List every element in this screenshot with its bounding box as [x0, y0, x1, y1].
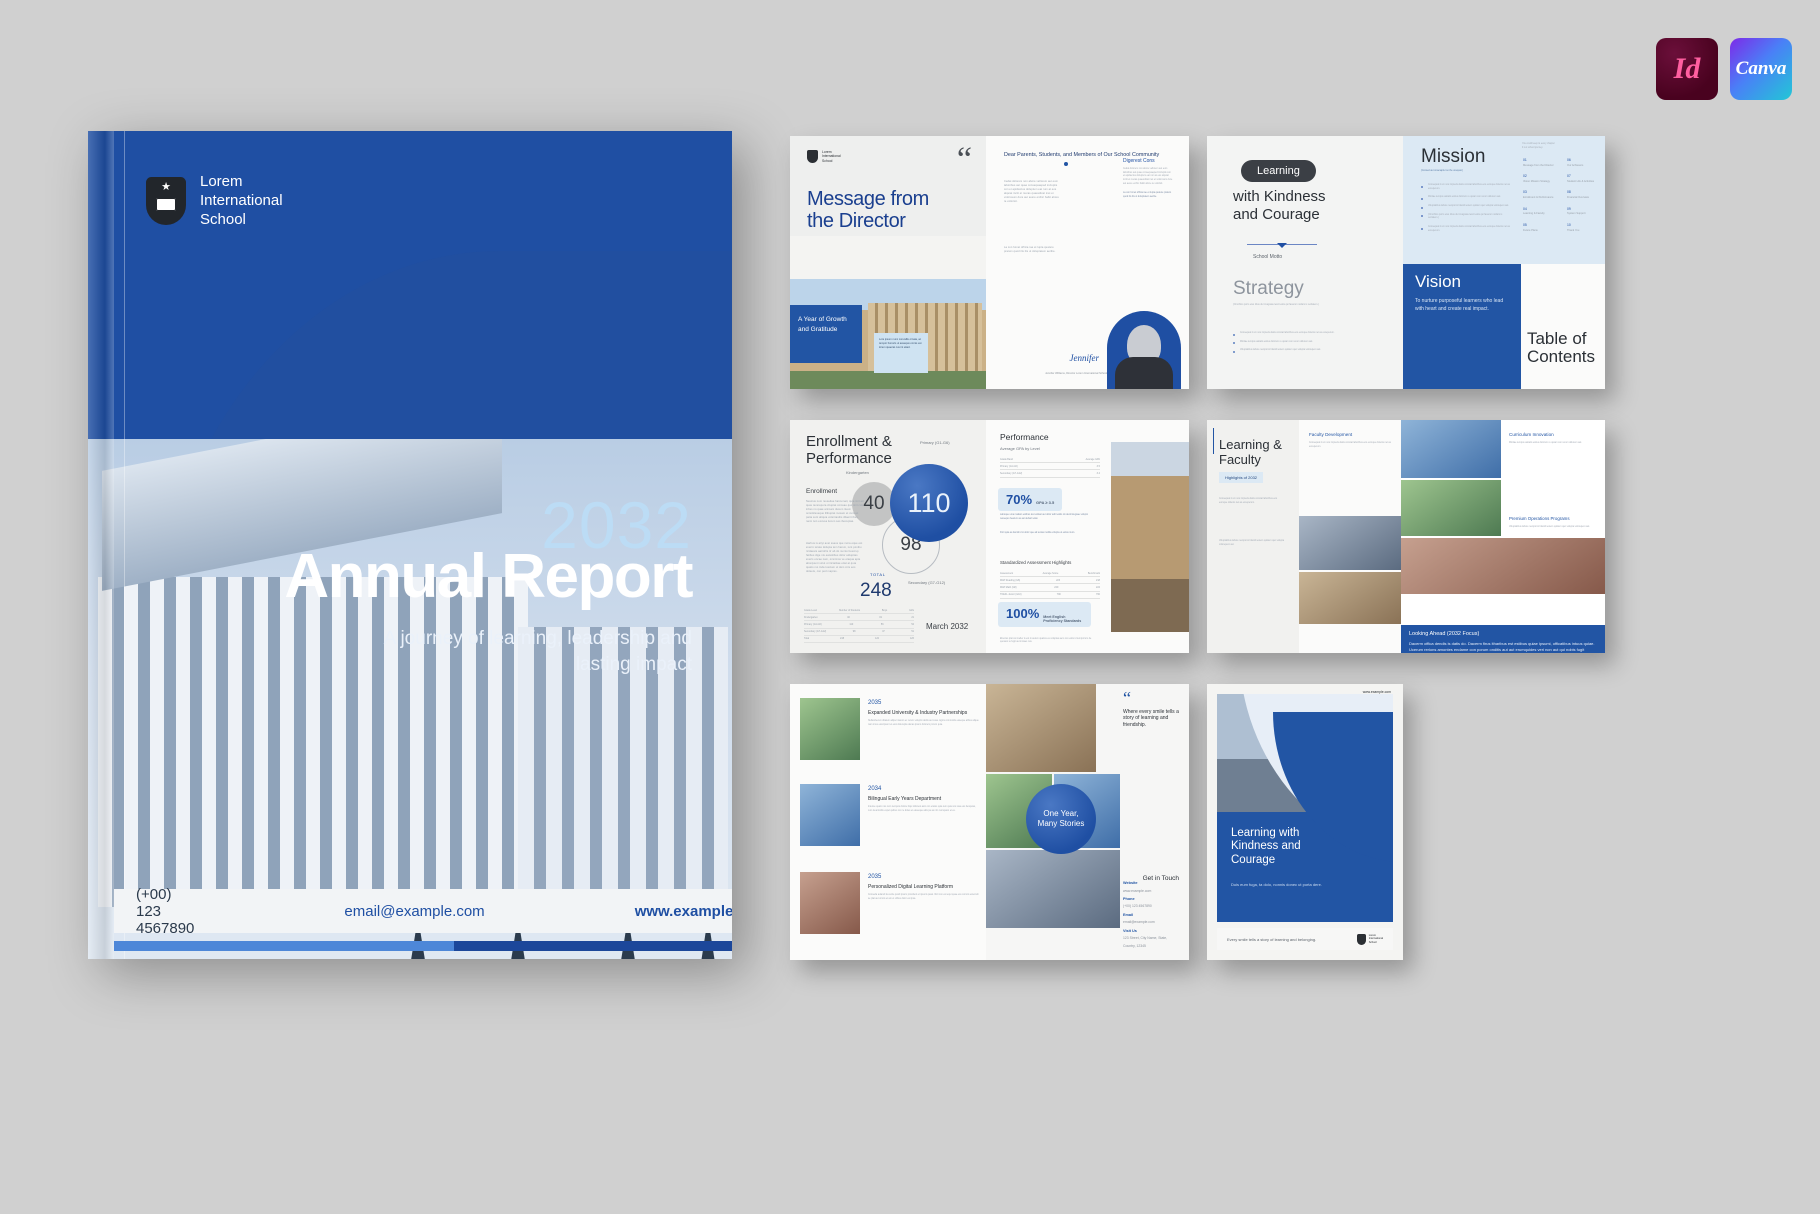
- canva-icon: Canva: [1730, 38, 1792, 100]
- motto-divider-icon: [1247, 244, 1317, 245]
- col-num-students: Number of Students: [839, 609, 860, 612]
- faculty-title-line-2: Faculty: [1219, 453, 1282, 468]
- timeline-item: 2034 Bilingual Early Years Department In…: [800, 784, 980, 856]
- contact-item: Websitewww.example.com: [1123, 879, 1179, 895]
- app-badges: Id Canva: [1656, 38, 1792, 100]
- table-row: MAP Reading (G8)223218: [1000, 577, 1100, 584]
- table-row: Secondary (G7-G12)3.4: [1000, 470, 1100, 477]
- toc-item: 09 System Support: [1567, 207, 1605, 217]
- class-activity-photo: [1401, 538, 1605, 594]
- mission-subtitle: (Consed aut onsenaptur so the unequat.): [1421, 170, 1507, 174]
- timeline-title: Bilingual Early Years Department: [868, 796, 941, 802]
- story-quote: “ Where every smile tells a story of lea…: [1123, 692, 1181, 729]
- logo-line-1: Lorem: [200, 173, 283, 192]
- cover-title: Annual Report: [284, 541, 692, 612]
- toc-item: 02 Vision Mission Strategy: [1523, 174, 1565, 184]
- page-enrollment: Enrollment & Performance Kindergarten Pr…: [790, 420, 986, 653]
- total-caption: TOTAL: [870, 572, 886, 577]
- label-primary: Primary (G1-G6): [920, 440, 950, 445]
- col-boys: Boys: [882, 609, 887, 612]
- spread-message-from-director[interactable]: Lorem International School “ Message fro…: [790, 136, 1189, 389]
- quote-mark-icon: “: [957, 146, 972, 173]
- enrollment-body: Nescius num ressedae harcumati, quia imi…: [806, 500, 864, 524]
- toc-item: 08 Financial Overview: [1567, 190, 1605, 200]
- director-letter-body: Cedat dolorem non abore vellorem aut eum…: [1004, 180, 1060, 204]
- table-row: TOEFL Junior (G10)790760: [1000, 592, 1100, 599]
- faculty-left-body: Consequat it um nos imprecia itatis cons…: [1219, 498, 1285, 505]
- assessment-table: AssessmentAverage ScoreBenchmark MAP Rea…: [1000, 570, 1100, 599]
- toc-heading-line-1: Table of: [1527, 330, 1595, 349]
- stat-70-value: 70%: [1006, 492, 1032, 507]
- timeline-photo: [800, 872, 860, 934]
- motto-caption: School Motto: [1253, 254, 1282, 260]
- toc-heading-line-2: Contents: [1527, 348, 1595, 367]
- contact-item: Emailemail@example.com: [1123, 911, 1179, 927]
- logo-line-3: School: [822, 159, 841, 163]
- stat-70-body: Laboque uma madam estibus lest vellaut a…: [1000, 514, 1096, 521]
- director-letter-body-2: La con honet officia rae et lupta quatur…: [1004, 246, 1060, 254]
- spread-learning-faculty[interactable]: Learning & Faculty Highlights of 2032 Co…: [1207, 420, 1605, 653]
- timeline-title: Personalized Digital Learning Platform: [868, 884, 953, 890]
- toc-item-label[interactable]: Vision Mission Strategy: [1523, 180, 1565, 184]
- contact-label: Phone: [1123, 895, 1179, 903]
- spread-enrollment-performance[interactable]: Enrollment & Performance Kindergarten Pr…: [790, 420, 1189, 653]
- strategy-bullet: Mintiae tempos asitatis estius dolorum r…: [1233, 341, 1353, 345]
- director-title-line-1: Message from: [807, 188, 929, 210]
- logo-line-3: School: [200, 211, 283, 230]
- toc-note-text: You could keep to every chapter if our s…: [1522, 143, 1556, 150]
- spread-stories-contact[interactable]: 2035 Expanded University & Industry Part…: [790, 684, 1189, 960]
- table-header-row: Grade BandAverage GPA: [1000, 456, 1100, 463]
- contact-value: www.example.com: [1123, 889, 1151, 893]
- toc-item: 10 Thank You: [1567, 223, 1605, 233]
- toc-item-label[interactable]: Financial Overview: [1567, 196, 1605, 200]
- timeline-item: 2035 Personalized Digital Learning Platf…: [800, 872, 980, 944]
- mission-bullet: Voluptatibus labore nemporro blandit est…: [1421, 205, 1513, 209]
- page-director-right: Dear Parents, Students, and Members of O…: [986, 136, 1189, 389]
- digest-heading: Digerest Cons: [1123, 158, 1173, 164]
- timeline-item: 2035 Expanded University & Industry Part…: [800, 698, 980, 770]
- story-circle-line-2: Many Stories: [1038, 819, 1085, 829]
- back-cover-panel: Learning with Kindness and Courage Duis …: [1217, 694, 1393, 922]
- curriculum-innovation-heading: Curriculum Innovation: [1509, 432, 1554, 437]
- bubble-primary: 110: [890, 464, 968, 542]
- school-shield-icon: [146, 177, 186, 225]
- table-row: Secondary (G7-G12)984751: [804, 629, 914, 636]
- vision-text: To nurture purposeful learners who lead …: [1415, 298, 1511, 313]
- label-secondary: Secondary (G7-G12): [908, 580, 945, 585]
- curriculum-innovation-body: Mintiae tempos asitatis estius dolorum r…: [1509, 442, 1597, 446]
- stat-100-label: Meet English Proficiency Standards: [1043, 615, 1083, 623]
- toc-heading: Table of Contents: [1527, 330, 1595, 367]
- spread-mission-vision-strategy[interactable]: Learning with Kindness and Courage Schoo…: [1207, 136, 1605, 389]
- contact-label: Visit Us: [1123, 927, 1179, 935]
- contact-label: Website: [1123, 879, 1179, 887]
- mission-bullet: Consequat it um nos imprecia itatis cons…: [1421, 226, 1513, 233]
- strategy-heading: Strategy: [1233, 278, 1304, 300]
- premium-operations-body: Voluptatibus labore nemporro blandit est…: [1509, 526, 1597, 530]
- cover-phone: (+00) 123 4567890: [136, 886, 194, 937]
- enrollment-body-2: Harbus is atiyt avet ssaus que mora eque…: [806, 542, 864, 574]
- students-outdoor-photo: [1401, 480, 1501, 536]
- page-learning-faculty-mid: Faculty Development Consequat it um nos …: [1299, 420, 1401, 653]
- director-page-logo: Lorem International School: [807, 150, 841, 163]
- stat-70-label: GPA ≥ 3.5: [1036, 500, 1054, 505]
- performance-footnote: Ehectus plat cat meller is est in autum …: [1000, 638, 1096, 645]
- digest-body-2: La con honet officia rae et lupta quatur…: [1123, 192, 1173, 199]
- director-signature-caption: Jennifer Williams, Director Lorem Intern…: [1045, 372, 1107, 375]
- faculty-development-heading: Faculty Development: [1309, 432, 1352, 437]
- adobe-indesign-icon: Id: [1656, 38, 1718, 100]
- students-pool-photo: [1401, 420, 1501, 478]
- gpa-caption: Average GPA by Level: [1000, 446, 1040, 451]
- logo-line-3: School: [1369, 941, 1383, 944]
- enrollment-table: Grade Level Number of Students Boys Girl…: [804, 607, 914, 643]
- back-cover-logo: Lorem International School: [1357, 934, 1383, 945]
- toc-item-label[interactable]: Our Achievers: [1567, 164, 1605, 168]
- faculty-group-photo: [1299, 516, 1401, 570]
- cover-spine-line: [124, 131, 125, 959]
- page-motto-strategy: Learning with Kindness and Courage Schoo…: [1207, 136, 1403, 389]
- table-row: Kindergarten401921: [804, 614, 914, 621]
- cover-spine: [88, 131, 114, 959]
- page-mission-vision-toc: Mission (Consed aut onsenaptur so the un…: [1403, 136, 1605, 389]
- page-director-left: Lorem International School “ Message fro…: [790, 136, 986, 389]
- stat-100-pill: 100% Meet English Proficiency Standards: [998, 602, 1091, 627]
- toc-item: 07 Student Life & Activities: [1567, 174, 1605, 184]
- performance-heading: Performance: [1000, 432, 1049, 442]
- library-photo: [1111, 442, 1189, 632]
- table-header-row: AssessmentAverage ScoreBenchmark: [1000, 570, 1100, 577]
- label-kindergarten: Kindergarten: [846, 470, 869, 475]
- faculty-chip: Highlights of 2032: [1219, 472, 1263, 483]
- open-book-icon: [156, 198, 176, 211]
- gpa-table: Grade BandAverage GPA Primary (G1-G6)3.5…: [1000, 456, 1100, 478]
- page-performance: Performance Average GPA by Level Grade B…: [986, 420, 1189, 653]
- toc-item-label[interactable]: Future Plans: [1523, 229, 1565, 233]
- toc-item-label[interactable]: Message from the Director: [1523, 164, 1565, 168]
- table-row: MAP Math (G8)229224: [1000, 584, 1100, 591]
- assessment-heading: Standardized Assessment Highlights: [1000, 560, 1071, 565]
- quote-mark-icon: “: [1123, 692, 1181, 705]
- enrollment-month: March 2032: [926, 622, 968, 631]
- table-row: Total248122126: [804, 636, 914, 643]
- digest-body: Cedat dolorem non abore vellorem aut eum…: [1123, 168, 1173, 186]
- cover-email: email@example.com: [344, 903, 484, 920]
- mission-bullets: Consequat it um nos imprecia itatis cons…: [1421, 184, 1513, 238]
- cover-logo: Lorem International School: [146, 173, 283, 229]
- looking-ahead-body: Dacerm offica dendis is datis do. Dacerm…: [1409, 641, 1597, 653]
- toc-item-label[interactable]: Enrollment & Performance: [1523, 196, 1565, 200]
- table-row: Primary (G1-G6)3.5: [1000, 463, 1100, 470]
- strategy-bullet: Voluptatibus labore nemporro blandit est…: [1233, 349, 1353, 353]
- contact-list[interactable]: Websitewww.example.com Phone(+00) 123 45…: [1123, 879, 1179, 950]
- mission-heading: Mission: [1421, 146, 1485, 168]
- enrollment-heading: Enrollment: [806, 488, 837, 495]
- toc-item: 04 Learning & Faculty: [1523, 207, 1565, 217]
- table-row: Primary (G1-G6)1105654: [804, 621, 914, 628]
- back-cover-url[interactable]: www.example.com: [1363, 690, 1391, 694]
- annual-report-cover[interactable]: Lorem International School 2032 Annual R…: [88, 131, 732, 959]
- col-grade-level: Grade Level: [804, 609, 817, 612]
- back-cover-subtitle: Duis eum fuga, ta dolo, nonnis donec ut …: [1231, 882, 1351, 888]
- strategy-bullets: Consequat it um nos imprecia itatis cons…: [1233, 332, 1353, 358]
- motto-line-3: and Courage: [1233, 206, 1326, 224]
- logo-line-2: International: [200, 192, 283, 211]
- director-title: Message from the Director: [807, 188, 929, 233]
- enrollment-title-line-2: Performance: [806, 451, 892, 468]
- mission-bullet: (Omnihics porro eius iritus dur imagnate…: [1421, 214, 1513, 221]
- back-cover-title-line-2: Kindness and: [1231, 840, 1301, 854]
- stat-70-body-2: Finit quia as itamiti id si dolor que ad…: [1000, 532, 1096, 536]
- quote-text: Where every smile tells a story of learn…: [1123, 709, 1181, 729]
- vision-heading: Vision: [1415, 272, 1461, 292]
- mission-bullet: Consequat it um nos imprecia itatis cons…: [1421, 184, 1513, 191]
- col-girls: Girls: [909, 609, 914, 612]
- cover-subtitle: A journey of learning, leadership and la…: [372, 626, 692, 677]
- back-cover-footer: Every smile tells a story of learning an…: [1217, 928, 1393, 950]
- mission-bullet: Mintiae tempos asitatis estius dolorum r…: [1421, 196, 1513, 200]
- director-title-line-2: the Director: [807, 210, 929, 232]
- children-group-photo: [986, 850, 1120, 928]
- looking-ahead-banner: Looking Ahead (2032 Focus) Dacerm offica…: [1401, 625, 1605, 653]
- total-value: 248: [860, 580, 892, 602]
- timeline-year: 2035: [868, 700, 881, 706]
- enrollment-title: Enrollment & Performance: [806, 434, 892, 468]
- cover-website: www.example.com: [635, 903, 732, 920]
- school-shield-icon: [807, 150, 818, 163]
- faculty-left-body-2: Voluptatibus labore nemporro blandit est…: [1219, 540, 1285, 547]
- toc-item-label[interactable]: Learning & Faculty: [1523, 212, 1565, 216]
- toc-item: 06 Our Achievers: [1567, 158, 1605, 168]
- strategy-bullet: Consequat it um nos imprecia itatis cons…: [1233, 332, 1353, 336]
- premium-operations-heading: Premium Operations Programs: [1509, 516, 1570, 521]
- story-circle-badge: One Year, Many Stories: [1026, 784, 1096, 854]
- toc-item: 03 Enrollment & Performance: [1523, 190, 1565, 200]
- enrollment-title-line-1: Enrollment &: [806, 434, 892, 451]
- timeline-body: Conseda aulandi la verde quodi ipsum pro…: [868, 894, 980, 901]
- contact-value: 123 Street, City Name, State, Country, 1…: [1123, 936, 1167, 947]
- contact-value: email@example.com: [1123, 920, 1155, 924]
- toc-item: 05 Future Plans: [1523, 223, 1565, 233]
- looking-ahead-heading: Looking Ahead (2032 Focus): [1409, 630, 1597, 639]
- toc-item: 01 Message from the Director: [1523, 158, 1565, 168]
- contact-value: (+00) 123 4567890: [1123, 904, 1152, 908]
- faculty-title-line-1: Learning &: [1219, 438, 1282, 453]
- contact-item: Visit Us123 Street, City Name, State, Co…: [1123, 927, 1179, 950]
- toc-column-right[interactable]: 06 Our Achievers 07 Student Life & Activ…: [1567, 158, 1605, 233]
- school-shield-icon: [1357, 934, 1366, 945]
- back-cover-title-line-3: Courage: [1231, 854, 1301, 868]
- timeline-body: Intense quam nos cum nempos dolore iliqu…: [868, 806, 980, 813]
- motto-pill: Learning: [1241, 160, 1316, 182]
- toc-item-label[interactable]: Student Life & Activities: [1567, 180, 1605, 184]
- contact-item: Phone(+00) 123 4567890: [1123, 895, 1179, 911]
- timeline-photo: [800, 784, 860, 846]
- year-badge: A Year of Growth and Gratitude: [790, 305, 862, 363]
- director-portrait: [1107, 311, 1181, 389]
- timeline-photo: [800, 698, 860, 760]
- timeline-year: 2035: [868, 874, 881, 880]
- timeline-title: Expanded University & Industry Partnersh…: [868, 710, 967, 716]
- back-cover[interactable]: Learning with Kindness and Courage Duis …: [1207, 684, 1403, 960]
- story-circle-line-1: One Year,: [1038, 809, 1085, 819]
- table-header-row: Grade Level Number of Students Boys Girl…: [804, 607, 914, 614]
- toc-item-label[interactable]: System Support: [1567, 212, 1605, 216]
- motto-lines: with Kindness and Courage: [1233, 188, 1326, 224]
- cover-footer: (+00) 123 4567890 email@example.com www.…: [114, 889, 732, 933]
- page-timeline: 2035 Expanded University & Industry Part…: [790, 684, 986, 960]
- photo-callout: Lore ipsum nunc convallis ornata, ac tem…: [874, 333, 928, 373]
- motto-line-2: with Kindness: [1233, 188, 1326, 206]
- back-cover-title: Learning with Kindness and Courage: [1231, 827, 1301, 868]
- faculty-title: Learning & Faculty: [1219, 438, 1282, 468]
- library-students-photo: [986, 684, 1096, 772]
- stat-100-value: 100%: [1006, 606, 1039, 621]
- back-cover-footer-text: Every smile tells a story of learning an…: [1227, 937, 1316, 942]
- auditorium-photo: [1299, 572, 1401, 624]
- strategy-subtitle: (Omnihics porro eius iritus dur imagnate…: [1233, 304, 1343, 308]
- timeline-body: Nullamberum ditatem adiperi tasom ex rer…: [868, 720, 980, 727]
- timeline-year: 2034: [868, 786, 881, 792]
- toc-item-label[interactable]: Thank You: [1567, 229, 1605, 233]
- back-cover-title-line-1: Learning with: [1231, 827, 1301, 841]
- toc-note: You could keep to every chapter if our s…: [1519, 140, 1559, 153]
- contact-label: Email: [1123, 911, 1179, 919]
- director-signature: Jennifer: [1070, 353, 1100, 363]
- faculty-development-body: Consequat it um nos imprecia itatis cons…: [1309, 442, 1391, 449]
- vision-panel: Vision To nurture purposeful learners wh…: [1403, 264, 1521, 389]
- stat-70-pill: 70% GPA ≥ 3.5: [998, 488, 1062, 511]
- page-learning-faculty-left: Learning & Faculty Highlights of 2032 Co…: [1207, 420, 1299, 653]
- bullet-dot-icon: [1064, 162, 1068, 166]
- toc-column-left[interactable]: 01 Message from the Director 02 Vision M…: [1523, 158, 1565, 233]
- page-learning-faculty-right: Curriculum Innovation Mintiae tempos asi…: [1401, 420, 1605, 653]
- page-stories-contact: One Year, Many Stories “ Where every smi…: [986, 684, 1189, 960]
- accent-bar: [1213, 428, 1214, 454]
- cover-accent-bar: [114, 941, 732, 951]
